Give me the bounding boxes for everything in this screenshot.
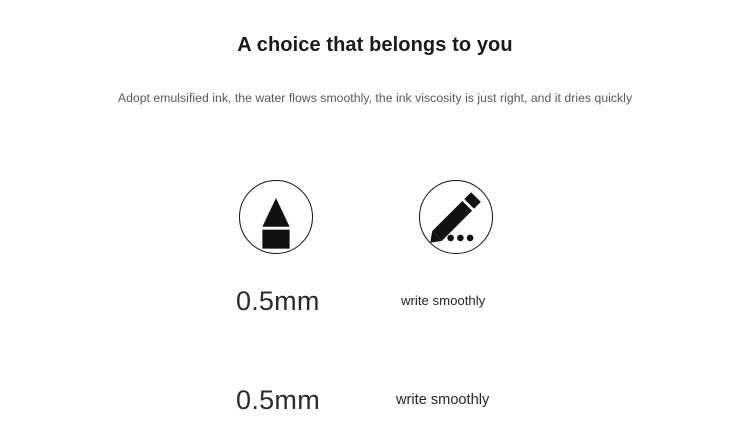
pencil-icon [419, 180, 493, 254]
pencil-icon-glyph [420, 181, 492, 253]
page-subtitle: Adopt emulsified ink, the water flows sm… [0, 89, 750, 107]
spec-caption: write smoothly [401, 284, 485, 318]
feature-row: 0.5mm write smoothly [0, 284, 750, 318]
pen-nib-icon [239, 180, 313, 254]
spec-value: 0.5mm [236, 284, 320, 318]
page-title: A choice that belongs to you [0, 31, 750, 59]
pen-nib-icon-glyph [240, 181, 312, 253]
feature-row: 0.5mm write smoothly [0, 383, 750, 417]
product-feature-section: A choice that belongs to you Adopt emuls… [0, 0, 750, 437]
spec-value: 0.5mm [236, 383, 320, 417]
spec-caption: write smoothly [396, 383, 489, 417]
